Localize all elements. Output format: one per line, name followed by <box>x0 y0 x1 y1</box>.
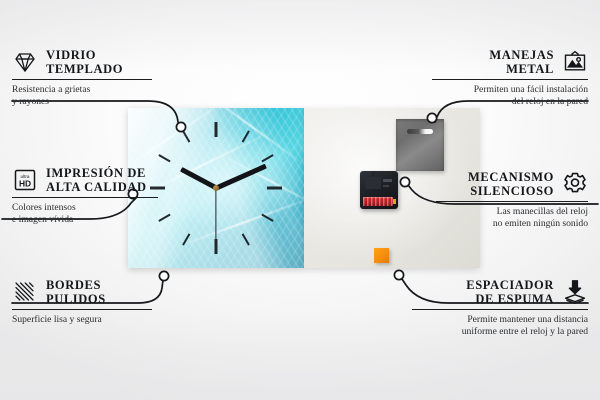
mechanism-housing-detail <box>383 179 392 182</box>
callout-print-quality: ultra HD IMPRESIÓN DE ALTA CALIDAD Color… <box>12 166 158 225</box>
connector-endpoint-foam-spacer <box>394 270 403 279</box>
callout-header: MECANISMO SILENCIOSO <box>436 170 588 198</box>
clock-second-hand <box>215 188 216 245</box>
connector-endpoint-polished-edges <box>159 271 168 280</box>
callout-foam-spacer: ESPACIADOR DE ESPUMA Permite mantener un… <box>412 278 588 337</box>
clock-center-cap <box>213 185 219 191</box>
callout-divider <box>432 79 588 80</box>
svg-text:HD: HD <box>19 178 31 188</box>
clock-tick <box>182 130 190 142</box>
callout-title: IMPRESIÓN DE ALTA CALIDAD <box>46 166 147 194</box>
gear-icon <box>562 171 588 197</box>
callout-description: Permiten una fácil instalación del reloj… <box>432 84 588 107</box>
callout-divider <box>412 309 588 310</box>
callout-title: ESPACIADOR DE ESPUMA <box>466 278 554 306</box>
clock-tick <box>261 214 273 222</box>
mechanism-housing-detail <box>383 185 389 187</box>
clock-hour-hand <box>180 167 218 190</box>
clock-tick <box>158 154 170 162</box>
ultra-hd-icon: ultra HD <box>12 167 38 193</box>
battery <box>363 197 393 206</box>
clock-minute-hand <box>215 164 266 191</box>
foam-spacer-pad <box>374 248 389 263</box>
callout-title: MECANISMO SILENCIOSO <box>468 170 554 198</box>
product-image-group <box>128 108 480 268</box>
clock-tick <box>261 154 273 162</box>
callout-divider <box>12 309 152 310</box>
clock-tick <box>242 130 250 142</box>
callout-title: VIDRIO TEMPLADO <box>46 48 123 76</box>
callout-header: VIDRIO TEMPLADO <box>12 48 152 76</box>
callout-polished-edges: BORDES PULIDOS Superficie lisa y segura <box>12 278 152 326</box>
callout-header: BORDES PULIDOS <box>12 278 152 306</box>
diamond-icon <box>12 49 38 75</box>
callout-title: MANEJAS METAL <box>489 48 554 76</box>
polished-edge-icon <box>12 279 38 305</box>
callout-metal-handles: MANEJAS METAL Permiten una fácil instala… <box>432 48 588 107</box>
callout-header: ESPACIADOR DE ESPUMA <box>412 278 588 306</box>
callout-divider <box>12 79 152 80</box>
clock-mechanism <box>360 171 398 209</box>
clock-tick <box>215 122 218 137</box>
callout-title: BORDES PULIDOS <box>46 278 106 306</box>
callout-silent-mechanism: MECANISMO SILENCIOSO Las manecillas del … <box>436 170 588 229</box>
clock-tick <box>242 233 250 245</box>
hanging-frame-icon <box>562 49 588 75</box>
clock-tick <box>158 214 170 222</box>
mechanism-housing-detail <box>365 177 381 189</box>
callout-header: MANEJAS METAL <box>432 48 588 76</box>
clock-tick <box>182 233 190 245</box>
callout-description: Resistencia a grietas y rayones <box>12 84 152 107</box>
metal-hanger-plate <box>396 119 444 171</box>
callout-description: Colores intensos e imagen vívida <box>12 202 158 225</box>
product-feature-infographic: VIDRIO TEMPLADO Resistencia a grietas y … <box>0 0 600 400</box>
callout-divider <box>436 201 588 202</box>
callout-header: ultra HD IMPRESIÓN DE ALTA CALIDAD <box>12 166 158 194</box>
callout-divider <box>12 197 158 198</box>
callout-description: Las manecillas del reloj no emiten ningú… <box>436 206 588 229</box>
callout-tempered-glass: VIDRIO TEMPLADO Resistencia a grietas y … <box>12 48 152 107</box>
clock-tick <box>267 187 282 190</box>
callout-description: Superficie lisa y segura <box>12 314 152 325</box>
battery-label-stripes <box>363 197 393 206</box>
callout-description: Permite mantener una distancia uniforme … <box>412 314 588 337</box>
foam-spacer-icon <box>562 279 588 305</box>
hanger-slot <box>407 129 433 134</box>
